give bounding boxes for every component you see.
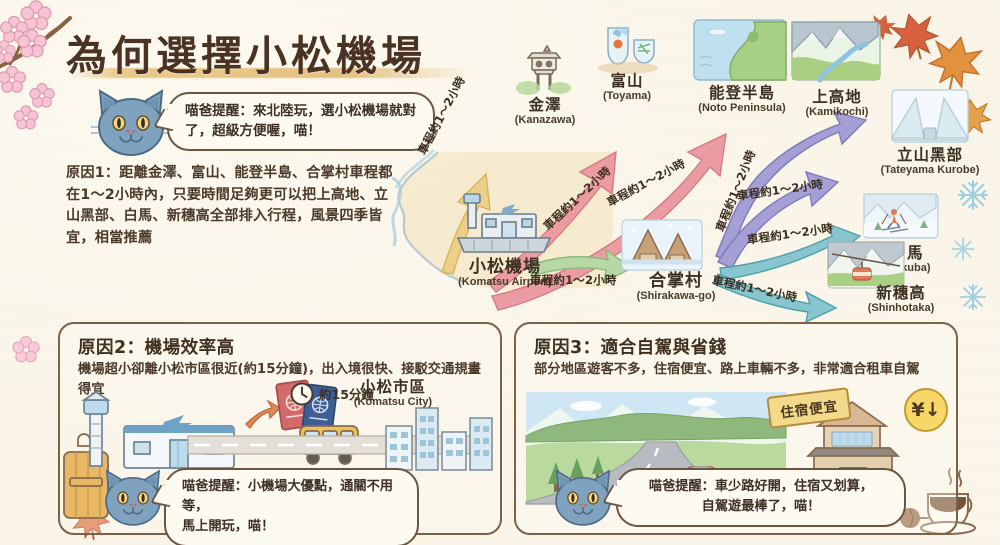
cheap-lodging-sign-label: 住宿便宜 <box>766 387 851 429</box>
gassho-house-icon <box>620 218 704 274</box>
cat-speech-bubble-reason2: 喵爸提醒：小機場大優點，通關不用等， 馬上開玩，喵！ <box>164 468 419 545</box>
place-komatsu-city: 小松市區 (Komatsu City) <box>328 378 458 409</box>
place-hakuba-jp: 白馬 <box>862 244 952 262</box>
cat-speech-bubble-reason3: 喵爸提醒：車少路好開，住宿又划算， 自駕遊最棒了，喵！ <box>616 468 906 527</box>
airport-terminal-icon <box>448 192 556 262</box>
cat-speech-bubble-reason3-line2: 自駕遊最棒了，喵！ <box>634 497 888 517</box>
arrow-label-noto: 車程約1～2小時 <box>604 155 688 210</box>
cat-speech-bubble-top: 喵爸提醒：來北陸玩，選小松機場就對了，超級方便喔，喵！ <box>167 92 435 151</box>
place-tateyama-kurobe-jp: 立山黑部 <box>860 146 1000 164</box>
snowflake-icon <box>956 178 990 212</box>
place-shirakawa-go-en: (Shirakawa-go) <box>606 290 746 303</box>
control-tower-icon <box>76 390 120 468</box>
peninsula-coast-icon <box>692 18 788 84</box>
snowflake-icon <box>950 236 976 262</box>
place-shinhotaka-jp: 新穗高 <box>836 284 966 302</box>
place-kamikochi-jp: 上高地 <box>782 88 892 106</box>
place-komatsu-city-en: (Komatsu City) <box>328 396 458 409</box>
infographic-page: 為何選擇小松機場 喵爸提醒：來北陸玩，選小松機場就對了 <box>0 0 1000 545</box>
place-kamikochi-en: (Kamikochi) <box>782 106 892 119</box>
place-komatsu-city-jp: 小松市區 <box>328 378 458 396</box>
place-shinhotaka-en: (Shinhotaka) <box>836 302 966 315</box>
place-tateyama-kurobe: 立山黑部 (Tateyama Kurobe) <box>860 146 1000 177</box>
place-kanazawa-en: (Kanazawa) <box>500 114 590 127</box>
reason3-body: 部分地區遊客不多，住宿便宜、路上車輛不多，非常適合租車自駕 <box>534 360 944 380</box>
yen-down-badge-label: ¥↓ <box>904 388 948 432</box>
cat-speech-bubble-reason2-line1: 喵爸提醒：小機場大優點，通關不用等， <box>182 477 401 517</box>
arrow-label-hakuba: 車程約1～2小時 <box>746 220 834 248</box>
place-hakuba-en: (Hakuba) <box>862 262 952 275</box>
transfer-arrow-icon <box>242 398 282 432</box>
page-title-wrapper: 為何選擇小松機場 <box>66 22 426 82</box>
city-building-icon <box>380 398 498 474</box>
reason2-title: 原因2：機場效率高 <box>78 334 235 359</box>
snow-wall-icon <box>890 88 970 146</box>
cheap-lodging-sign: 住宿便宜 <box>766 387 851 429</box>
place-hakuba: 白馬 (Hakuba) <box>862 244 952 275</box>
cat-speech-bubble-reason2-line2: 馬上開玩，喵！ <box>182 517 401 537</box>
place-toyama-jp: 富山 <box>580 72 674 90</box>
arrow-label-shirakawa: 車程約1～2小時 <box>530 272 617 288</box>
yen-down-badge-icon: ¥↓ <box>904 388 948 432</box>
maple-leaves-icon <box>878 4 1000 124</box>
glass-craft-icon <box>592 20 662 76</box>
reason3-title: 原因3：適合自駕與省錢 <box>534 334 727 359</box>
place-kanazawa-jp: 金澤 <box>500 96 590 114</box>
arrow-label-toyama: 車程約1～2小時 <box>540 163 614 234</box>
page-title: 為何選擇小松機場 <box>66 22 426 82</box>
shuttle-bus-icon <box>294 420 366 468</box>
place-toyama-en: (Toyama) <box>580 90 674 103</box>
stone-lantern-icon <box>514 44 574 96</box>
terminal-icon <box>120 410 238 472</box>
place-shinhotaka: 新穗高 (Shinhotaka) <box>836 284 966 315</box>
cat-speech-bubble-top-text: 喵爸提醒：來北陸玩，選小松機場就對了，超級方便喔，喵！ <box>185 103 416 139</box>
place-kanazawa: 金澤 (Kanazawa) <box>500 96 590 127</box>
road-icon <box>188 432 488 460</box>
skier-icon <box>862 192 940 242</box>
arrow-label-tateyama: 車程約1～2小時 <box>736 176 824 204</box>
place-kamikochi: 上高地 (Kamikochi) <box>782 88 892 119</box>
mountain-river-icon <box>790 20 882 84</box>
cherry-blossom-icon <box>6 330 46 370</box>
place-tateyama-kurobe-en: (Tateyama Kurobe) <box>860 164 1000 177</box>
cat-speech-bubble-reason3-line1: 喵爸提醒：車少路好開，住宿又划算， <box>634 477 888 497</box>
place-toyama: 富山 (Toyama) <box>580 72 674 103</box>
reason1-text: 原因1：距離金澤、富山、能登半島、合掌村車程都在1～2小時內，只要時間足夠更可以… <box>66 163 396 249</box>
